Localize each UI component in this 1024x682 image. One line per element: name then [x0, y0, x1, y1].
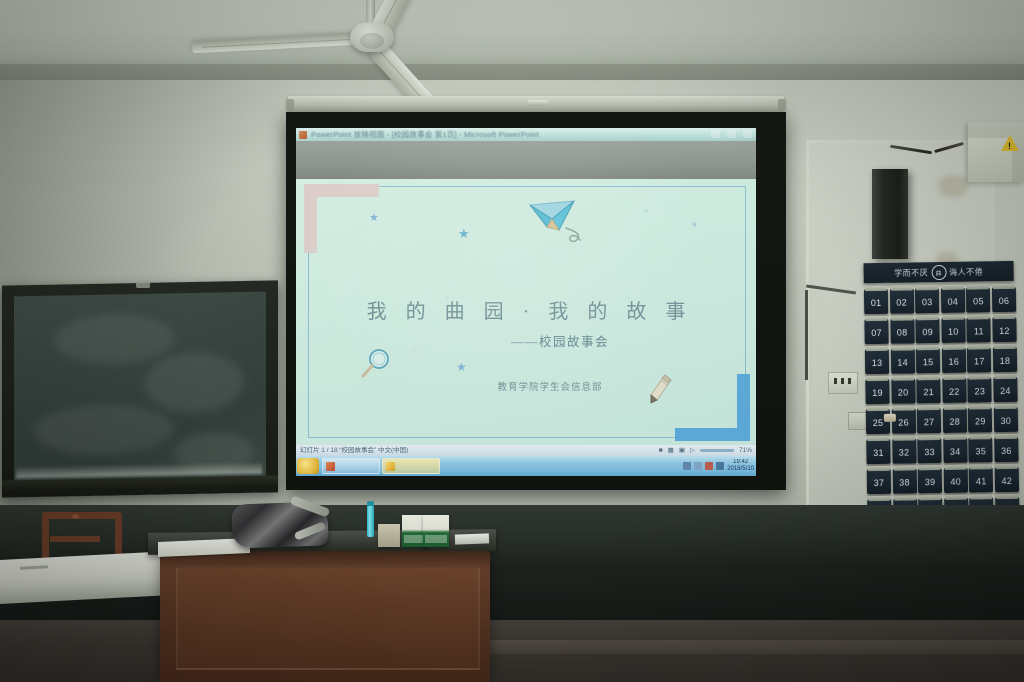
bottle-cap [367, 501, 374, 506]
pocket-number: 27 [924, 417, 935, 427]
phone-pocket[interactable]: 37 [867, 469, 891, 494]
phone-pocket[interactable]: 42 [995, 467, 1019, 492]
star-icon: ★ [691, 221, 698, 229]
phone-pocket[interactable]: 40 [943, 468, 967, 493]
powerpoint-status-bar[interactable]: 幻灯片 1 / 18 “校园故事会” 中文(中国) ■ ▦ ▣ ▷ 71% [296, 445, 756, 456]
header-right-text: 诲人不倦 [949, 266, 983, 278]
zoom-level: 71% [739, 445, 752, 456]
decor-dot [644, 209, 648, 213]
pocket-number: 04 [947, 296, 958, 306]
phone-pocket[interactable]: 22 [942, 378, 966, 403]
phone-pocket[interactable]: 33 [917, 438, 941, 463]
view-slideshow-icon[interactable]: ▷ [690, 445, 695, 456]
pocket-number: 35 [975, 446, 986, 456]
pocket-number: 07 [871, 327, 882, 337]
projector-screen-surface[interactable]: PowerPoint 放映视图 - [校园故事会 第1页] - Microsof… [296, 128, 756, 476]
pocket-board-header: 学而不厌 曲 诲人不倦 [863, 261, 1013, 283]
star-icon: ★ [456, 361, 467, 373]
phone-pocket[interactable]: 41 [969, 467, 993, 492]
taskbar-item-powerpoint[interactable] [322, 458, 380, 474]
phone-pocket[interactable]: 04 [941, 288, 965, 313]
pocket-number: 17 [974, 356, 985, 366]
phone-pocket[interactable]: 20 [891, 378, 915, 403]
pocket-number: 30 [1001, 415, 1012, 425]
phone-pocket[interactable]: 12 [992, 317, 1016, 342]
phone-pocket[interactable]: 19 [865, 379, 889, 404]
phone-pocket[interactable]: 21 [916, 378, 940, 403]
pocket-number: 16 [948, 356, 959, 366]
phone-pocket[interactable]: 35 [969, 437, 993, 462]
restore-button[interactable] [727, 130, 736, 138]
blackboard-eraser[interactable] [378, 524, 400, 547]
zoom-slider[interactable] [700, 449, 734, 452]
ime-icon[interactable] [705, 462, 713, 470]
phone-pocket[interactable]: 27 [917, 408, 941, 433]
phone-pocket[interactable]: 10 [941, 318, 965, 343]
folder-icon [386, 462, 395, 471]
phone-pocket[interactable]: 01 [864, 289, 888, 314]
taskbar-item-folder[interactable] [382, 458, 440, 474]
floor-strip [490, 640, 1024, 654]
pocket-number: 19 [872, 387, 883, 397]
pocket-number: 12 [999, 325, 1010, 335]
wall-conduit [805, 290, 808, 380]
phone-pocket[interactable]: 14 [890, 348, 914, 373]
phone-pocket[interactable]: 08 [890, 318, 914, 343]
pocket-number: 23 [974, 386, 985, 396]
windows-taskbar[interactable]: 19:42 2018/5/10 [296, 456, 756, 476]
pocket-number: 09 [922, 327, 933, 337]
fan-hub-center [360, 33, 384, 49]
status-right-group[interactable]: ■ ▦ ▣ ▷ 71% [659, 445, 752, 456]
window-title: PowerPoint 放映视图 - [校园故事会 第1页] - Microsof… [311, 129, 539, 140]
phone-pocket[interactable]: 23 [968, 377, 992, 402]
phone-pocket[interactable]: 07 [864, 319, 888, 344]
pocket-number: 15 [923, 357, 934, 367]
pocket-number: 26 [898, 417, 909, 427]
pocket-number: 10 [948, 326, 959, 336]
wall-speaker [872, 169, 908, 259]
pocket-number: 20 [898, 387, 909, 397]
blackboard-surface[interactable] [14, 292, 266, 485]
pocket-number: 31 [873, 447, 884, 457]
chalk-box-label [425, 535, 447, 543]
pocket-number: 28 [949, 416, 960, 426]
slide-title: 我 的 曲 园 · 我 的 故 事 [296, 295, 756, 324]
chair-slat [50, 536, 100, 542]
water-bottle[interactable] [367, 505, 374, 537]
phone-pocket[interactable]: 29 [968, 407, 992, 432]
phone-pocket[interactable]: 31 [866, 439, 890, 464]
clock-time: 19:42 [733, 459, 748, 465]
shield-icon[interactable] [716, 462, 724, 470]
view-reading-icon[interactable]: ▣ [679, 445, 685, 456]
slide-organization: 教育学院学生会信息部 [296, 379, 756, 393]
powerpoint-icon [326, 462, 335, 471]
phone-pocket[interactable]: 05 [966, 287, 990, 312]
pocket-number: 36 [1001, 445, 1012, 455]
minimize-button[interactable] [711, 130, 720, 138]
corner-bracket-pink [304, 184, 379, 253]
pocket-number: 11 [974, 326, 984, 336]
phone-pocket[interactable]: 02 [889, 288, 913, 313]
pocket-number: 24 [1000, 385, 1011, 395]
header-left-text: 学而不厌 [894, 267, 928, 279]
window-controls[interactable] [711, 130, 752, 138]
view-sorter-icon[interactable]: ▦ [668, 445, 674, 456]
pocket-number: 39 [925, 477, 936, 487]
pocket-number: 40 [950, 476, 961, 486]
pocket-number: 25 [873, 417, 884, 427]
powerpoint-title-bar[interactable]: PowerPoint 放映视图 - [校园故事会 第1页] - Microsof… [296, 128, 756, 141]
pocket-number: 02 [896, 297, 907, 307]
phone-pocket[interactable]: 39 [918, 468, 942, 493]
pocket-number: 03 [922, 297, 933, 307]
star-icon: ★ [458, 227, 470, 240]
classroom-scene: PowerPoint 放映视图 - [校园故事会 第1页] - Microsof… [0, 0, 1024, 682]
chair-knob [72, 514, 79, 519]
ceiling [0, 0, 1024, 72]
phone-pocket[interactable]: 34 [943, 438, 967, 463]
magnifier-icon [358, 347, 392, 381]
pocket-stored-item [884, 414, 896, 422]
close-button[interactable] [743, 130, 752, 138]
phone-pocket[interactable]: 03 [915, 288, 939, 313]
cloth-duster[interactable] [455, 533, 489, 544]
phone-pocket[interactable]: 28 [942, 408, 966, 433]
powerpoint-ribbon-area[interactable] [296, 141, 756, 179]
pocket-number: 05 [973, 296, 984, 306]
powerpoint-icon [299, 131, 307, 139]
roller-knob [528, 100, 548, 106]
start-button[interactable] [297, 458, 319, 474]
star-icon: ★ [369, 213, 379, 224]
network-icon[interactable] [683, 462, 691, 470]
slide-subtitle: ——校园故事会 [296, 331, 756, 350]
pocket-number: 06 [999, 295, 1010, 305]
pocket-number: 08 [897, 327, 908, 337]
pocket-number: 29 [975, 416, 986, 426]
taskbar-clock[interactable]: 19:42 2018/5/10 [727, 459, 754, 473]
phone-pocket[interactable]: 38 [892, 468, 916, 493]
view-normal-icon[interactable]: ■ [659, 445, 663, 456]
roller-end-left [286, 99, 294, 111]
phone-pocket[interactable]: 32 [892, 438, 916, 463]
plane-trail-icon [564, 227, 586, 247]
pocket-number: 32 [899, 447, 910, 457]
phone-pocket[interactable]: 15 [916, 348, 940, 373]
pocket-number: 33 [924, 447, 935, 457]
warning-symbol: ! [1008, 142, 1011, 151]
status-text: 幻灯片 1 / 18 “校园故事会” 中文(中国) [300, 445, 408, 456]
pocket-number: 37 [874, 477, 885, 487]
pocket-number: 13 [872, 357, 883, 367]
pocket-number: 18 [1000, 355, 1011, 365]
phone-pocket[interactable]: 18 [993, 347, 1017, 372]
slide-canvas[interactable]: ★ ★ ★ ★ [296, 179, 756, 445]
power-socket[interactable] [828, 372, 858, 394]
pocket-number: 22 [949, 386, 960, 396]
phone-pocket[interactable]: 09 [916, 318, 940, 343]
clock-date: 2018/5/10 [727, 466, 754, 472]
pocket-number: 21 [923, 387, 934, 397]
phone-pocket[interactable]: 24 [993, 377, 1017, 402]
phone-pocket[interactable]: 11 [967, 317, 991, 342]
blackboard-clip [136, 281, 150, 288]
pocket-number: 42 [1001, 475, 1012, 485]
pocket-number: 38 [899, 477, 910, 487]
chalk-box-2[interactable] [423, 515, 449, 547]
school-seal-icon: 曲 [931, 264, 946, 279]
volume-icon[interactable] [694, 462, 702, 470]
pocket-number: 41 [976, 476, 987, 486]
pocket-number: 14 [897, 357, 908, 367]
podium-front-panel [176, 566, 480, 670]
pocket-number: 01 [871, 297, 882, 307]
roller-end-right [778, 99, 786, 111]
system-tray[interactable]: 19:42 2018/5/10 [683, 458, 754, 474]
phone-pocket[interactable]: 30 [994, 407, 1018, 432]
phone-pocket[interactable]: 13 [865, 349, 889, 374]
pocket-number: 34 [950, 446, 961, 456]
phone-pocket[interactable]: 36 [994, 437, 1018, 462]
phone-pocket[interactable]: 17 [967, 347, 991, 372]
phone-pocket[interactable]: 06 [992, 287, 1016, 312]
phone-pocket[interactable]: 16 [942, 348, 966, 373]
